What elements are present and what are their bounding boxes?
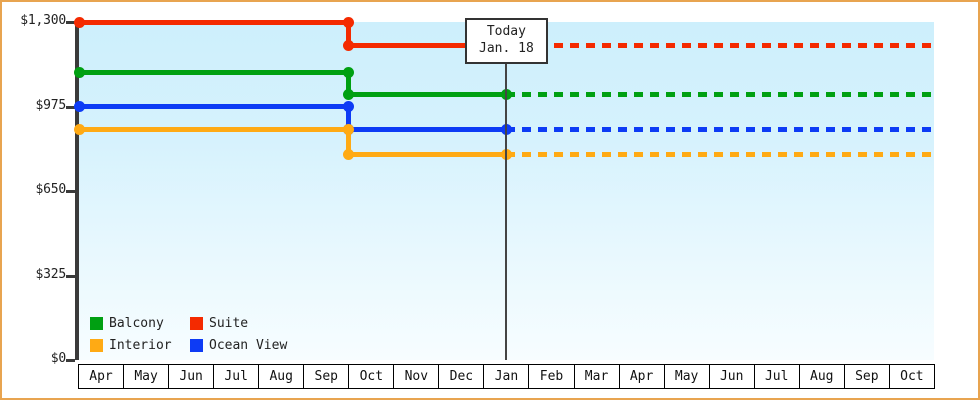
month-axis-cell[interactable]: Sep [303, 364, 349, 389]
month-axis-cell[interactable]: Jun [709, 364, 755, 389]
series-balcony-marker-step-top [343, 67, 354, 78]
month-axis-cell[interactable]: Jun [168, 364, 214, 389]
legend-swatch-icon [190, 339, 203, 352]
series-interior-historical-line [78, 127, 351, 132]
legend-item-label: Ocean View [209, 338, 287, 353]
legend-item-label: Balcony [109, 316, 164, 331]
legend-item-balcony[interactable]: Balcony [90, 316, 190, 331]
month-axis: AprMayJunJulAugSepOctNovDecJanFebMarAprM… [78, 364, 935, 389]
month-axis-cell[interactable]: Mar [574, 364, 620, 389]
month-axis-cell[interactable]: Sep [844, 364, 890, 389]
y-axis-tick-label: $0 [51, 351, 66, 366]
month-axis-cell[interactable]: Oct [889, 364, 935, 389]
month-axis-cell[interactable]: Jul [213, 364, 259, 389]
series-suite-marker-start [74, 17, 85, 28]
series-balcony-historical-line [78, 70, 351, 75]
month-axis-cell[interactable]: Aug [258, 364, 304, 389]
legend-swatch-icon [90, 317, 103, 330]
y-axis-tick-label: $325 [35, 267, 66, 282]
legend-item-ocean-view[interactable]: Ocean View [190, 338, 287, 353]
series-suite-marker-step-bottom [343, 40, 354, 51]
series-interior-marker-start [74, 124, 85, 135]
legend-item-suite[interactable]: Suite [190, 316, 287, 331]
y-axis-tick-label: $650 [35, 182, 66, 197]
month-axis-cell[interactable]: Dec [438, 364, 484, 389]
today-vertical-line [505, 22, 507, 360]
month-axis-cell[interactable]: Apr [78, 364, 124, 389]
month-axis-cell[interactable]: Nov [393, 364, 439, 389]
series-balcony-current-line [346, 92, 506, 97]
legend-item-label: Suite [209, 316, 248, 331]
month-axis-cell[interactable]: Jan [483, 364, 529, 389]
legend-swatch-icon [90, 339, 103, 352]
series-balcony-forecast-line [506, 92, 934, 97]
series-balcony-marker-start [74, 67, 85, 78]
series-suite-forecast-line [506, 43, 934, 48]
y-axis-tick-mark [66, 190, 75, 193]
series-interior-current-line [346, 152, 506, 157]
month-axis-cell[interactable]: May [123, 364, 169, 389]
legend-swatch-icon [190, 317, 203, 330]
month-axis-cell[interactable]: Oct [348, 364, 394, 389]
price-history-chart: $0$325$650$975$1,300 Today Jan. 18 Balco… [0, 0, 980, 400]
legend-item-interior[interactable]: Interior [90, 338, 190, 353]
month-axis-cell[interactable]: Jul [754, 364, 800, 389]
month-axis-cell[interactable]: Apr [619, 364, 665, 389]
legend-item-label: Interior [109, 338, 172, 353]
today-label-box: Today Jan. 18 [465, 18, 548, 64]
series-suite-marker-step-top [343, 17, 354, 28]
y-axis-tick-mark [66, 359, 75, 362]
today-label-title: Today [479, 23, 534, 40]
y-axis-tick-label: $975 [35, 98, 66, 113]
series-ocean-view-marker-step-top [343, 101, 354, 112]
y-axis-tick-mark [66, 275, 75, 278]
series-ocean-view-forecast-line [506, 127, 934, 132]
month-axis-cell[interactable]: May [664, 364, 710, 389]
chart-legend: BalconySuiteInteriorOcean View [90, 312, 287, 356]
series-ocean-view-current-line [346, 127, 506, 132]
y-axis-tick-label: $1,300 [20, 13, 66, 28]
series-ocean-view-historical-line [78, 104, 351, 109]
series-ocean-view-marker-start [74, 101, 85, 112]
month-axis-cell[interactable]: Aug [799, 364, 845, 389]
series-suite-historical-line [78, 20, 351, 25]
month-axis-cell[interactable]: Feb [528, 364, 574, 389]
series-interior-forecast-line [506, 152, 934, 157]
series-interior-marker-step-bottom [343, 149, 354, 160]
today-label-date: Jan. 18 [479, 40, 534, 57]
